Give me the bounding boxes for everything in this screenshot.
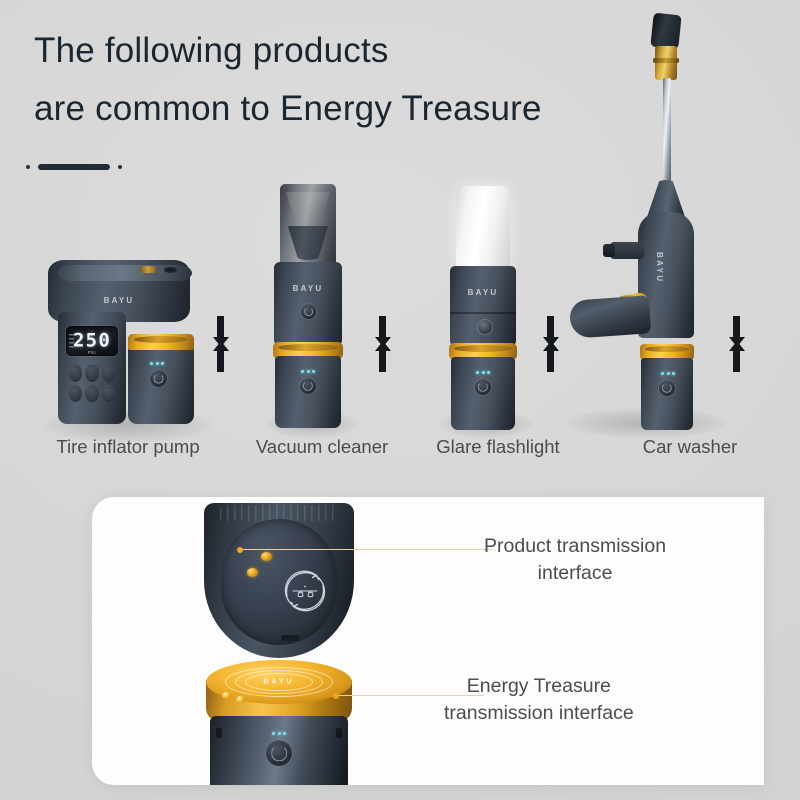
keypad-button[interactable] xyxy=(85,385,98,403)
led-dot xyxy=(278,732,281,735)
swap-arrows-4 xyxy=(726,312,752,378)
battery-led-dots-tire-inflator xyxy=(150,362,164,365)
led-dot xyxy=(661,372,664,375)
swap-arrows-2 xyxy=(372,312,398,378)
led-dot xyxy=(156,362,159,365)
arrow-up-icon xyxy=(733,350,740,372)
energy-treasure-battery-detail: BAYU xyxy=(196,660,362,785)
product-vacuum-cleaner[interactable]: BAYU xyxy=(266,184,356,430)
battery-side-slot xyxy=(336,728,342,738)
swap-arrows-1 xyxy=(210,312,236,378)
car-washer-battery-module xyxy=(641,358,693,430)
arrow-down-icon xyxy=(733,316,740,338)
brand-logo-flashlight: BAYU xyxy=(450,288,516,297)
flashlight-diffuser-head xyxy=(456,186,510,270)
car-washer-spray-lance xyxy=(663,78,671,186)
power-button-vacuum[interactable] xyxy=(301,304,316,319)
contact-pin-icon xyxy=(261,552,272,561)
battery-led-dots-detail xyxy=(272,732,286,735)
battery-contact-pin-icon xyxy=(236,696,245,703)
brand-logo-battery-top: BAYU xyxy=(263,679,294,686)
inflator-keypad[interactable] xyxy=(69,364,115,402)
product-glare-flashlight[interactable]: BAYU xyxy=(440,186,530,430)
keypad-button[interactable] xyxy=(102,364,115,382)
product-lineup: BAYU 250 PSI xyxy=(0,0,800,480)
product-label-car-washer: Car washer xyxy=(600,436,780,458)
led-dot xyxy=(312,370,315,373)
battery-ring-inner-bevel xyxy=(454,345,512,352)
leader-anchor-dot xyxy=(333,693,339,699)
leader-line-1 xyxy=(240,549,492,550)
product-label-vacuum-cleaner: Vacuum cleaner xyxy=(232,436,412,458)
led-dot xyxy=(672,372,675,375)
inflator-valve-connector xyxy=(140,266,156,273)
callout-2-text: Energy Treasure transmission interface xyxy=(444,673,634,727)
battery-led-dots-car-washer xyxy=(661,372,675,375)
led-dot xyxy=(272,732,275,735)
product-label-glare-flashlight: Glare flashlight xyxy=(412,436,584,458)
flashlight-seam-line xyxy=(450,312,516,314)
car-washer-hose-inlet xyxy=(610,242,644,259)
product-base-latch xyxy=(281,635,299,641)
arrow-down-icon xyxy=(217,316,224,338)
led-dot xyxy=(487,371,490,374)
product-base-detail xyxy=(204,503,354,663)
product-label-row: Tire inflator pump Vacuum cleaner Glare … xyxy=(0,436,800,470)
flashlight-side-lens xyxy=(478,320,492,334)
battery-led-dots-vacuum xyxy=(301,370,315,373)
flashlight-battery-module xyxy=(451,357,515,430)
lcd-pressure-value: 250 xyxy=(73,330,111,352)
vacuum-motor-housing: BAYU xyxy=(274,262,342,346)
arrow-down-icon xyxy=(547,316,554,338)
keypad-button[interactable] xyxy=(69,364,82,382)
power-button-detail[interactable] xyxy=(266,740,292,766)
keypad-button[interactable] xyxy=(102,385,115,403)
keypad-button[interactable] xyxy=(85,364,98,382)
arrow-up-icon xyxy=(547,350,554,372)
contact-pin-icon xyxy=(247,568,258,577)
battery-ring-inner-bevel xyxy=(278,344,338,351)
keypad-button[interactable] xyxy=(69,385,82,403)
battery-side-slot xyxy=(216,728,222,738)
led-dot xyxy=(482,371,485,374)
inflator-battery-module xyxy=(128,334,194,424)
flashlight-body: BAYU xyxy=(450,266,516,346)
led-dot xyxy=(667,372,670,375)
battery-contact-pin-icon xyxy=(222,692,231,699)
product-tire-inflator-pump[interactable]: BAYU 250 PSI xyxy=(42,250,212,430)
rotate-lock-unlock-icon xyxy=(277,563,333,619)
led-dot xyxy=(150,362,153,365)
leader-anchor-dot xyxy=(237,547,243,553)
led-dot xyxy=(476,371,479,374)
arrow-up-icon xyxy=(379,350,386,372)
brand-logo-tire-inflator: BAYU xyxy=(48,296,190,305)
battery-power-button-car-washer[interactable] xyxy=(659,380,675,396)
vacuum-battery-module xyxy=(275,356,341,428)
inflator-air-port xyxy=(164,267,177,273)
brand-logo-vacuum: BAYU xyxy=(274,284,342,293)
led-dot xyxy=(307,370,310,373)
battery-ring-inner-bevel xyxy=(645,346,689,352)
led-dot xyxy=(283,732,286,735)
led-dot xyxy=(301,370,304,373)
power-button-tire-inflator[interactable] xyxy=(150,370,167,387)
lcd-pressure-unit: PSI xyxy=(88,350,96,355)
battery-ring-inner-bevel xyxy=(134,336,188,343)
car-washer-brass-coupler xyxy=(655,46,677,80)
car-washer-handle-grip[interactable] xyxy=(569,295,651,338)
led-dot xyxy=(161,362,164,365)
battery-power-button-flashlight[interactable] xyxy=(475,379,491,395)
battery-cylinder-body xyxy=(210,716,348,785)
battery-gold-ring-tire-inflator xyxy=(128,334,194,350)
inflator-control-cylinder: 250 PSI xyxy=(58,312,126,424)
arrow-up-icon xyxy=(217,350,224,372)
product-label-tire-inflator-pump: Tire inflator pump xyxy=(20,436,236,458)
battery-power-button-vacuum[interactable] xyxy=(300,378,316,394)
battery-led-dots-flashlight xyxy=(476,371,490,374)
detail-panel: BAYU Product transmission xyxy=(92,497,764,785)
poster-canvas: The following products are common to Ene… xyxy=(0,0,800,800)
car-washer-nozzle-tip xyxy=(650,13,681,50)
brand-logo-car-washer: BAYU xyxy=(655,252,664,284)
inflator-lcd-display: 250 PSI xyxy=(66,326,118,356)
arrow-down-icon xyxy=(379,316,386,338)
product-base-face xyxy=(221,519,337,645)
callout-1-text: Product transmission interface xyxy=(484,533,666,587)
product-car-washer[interactable]: BAYU xyxy=(560,14,732,430)
